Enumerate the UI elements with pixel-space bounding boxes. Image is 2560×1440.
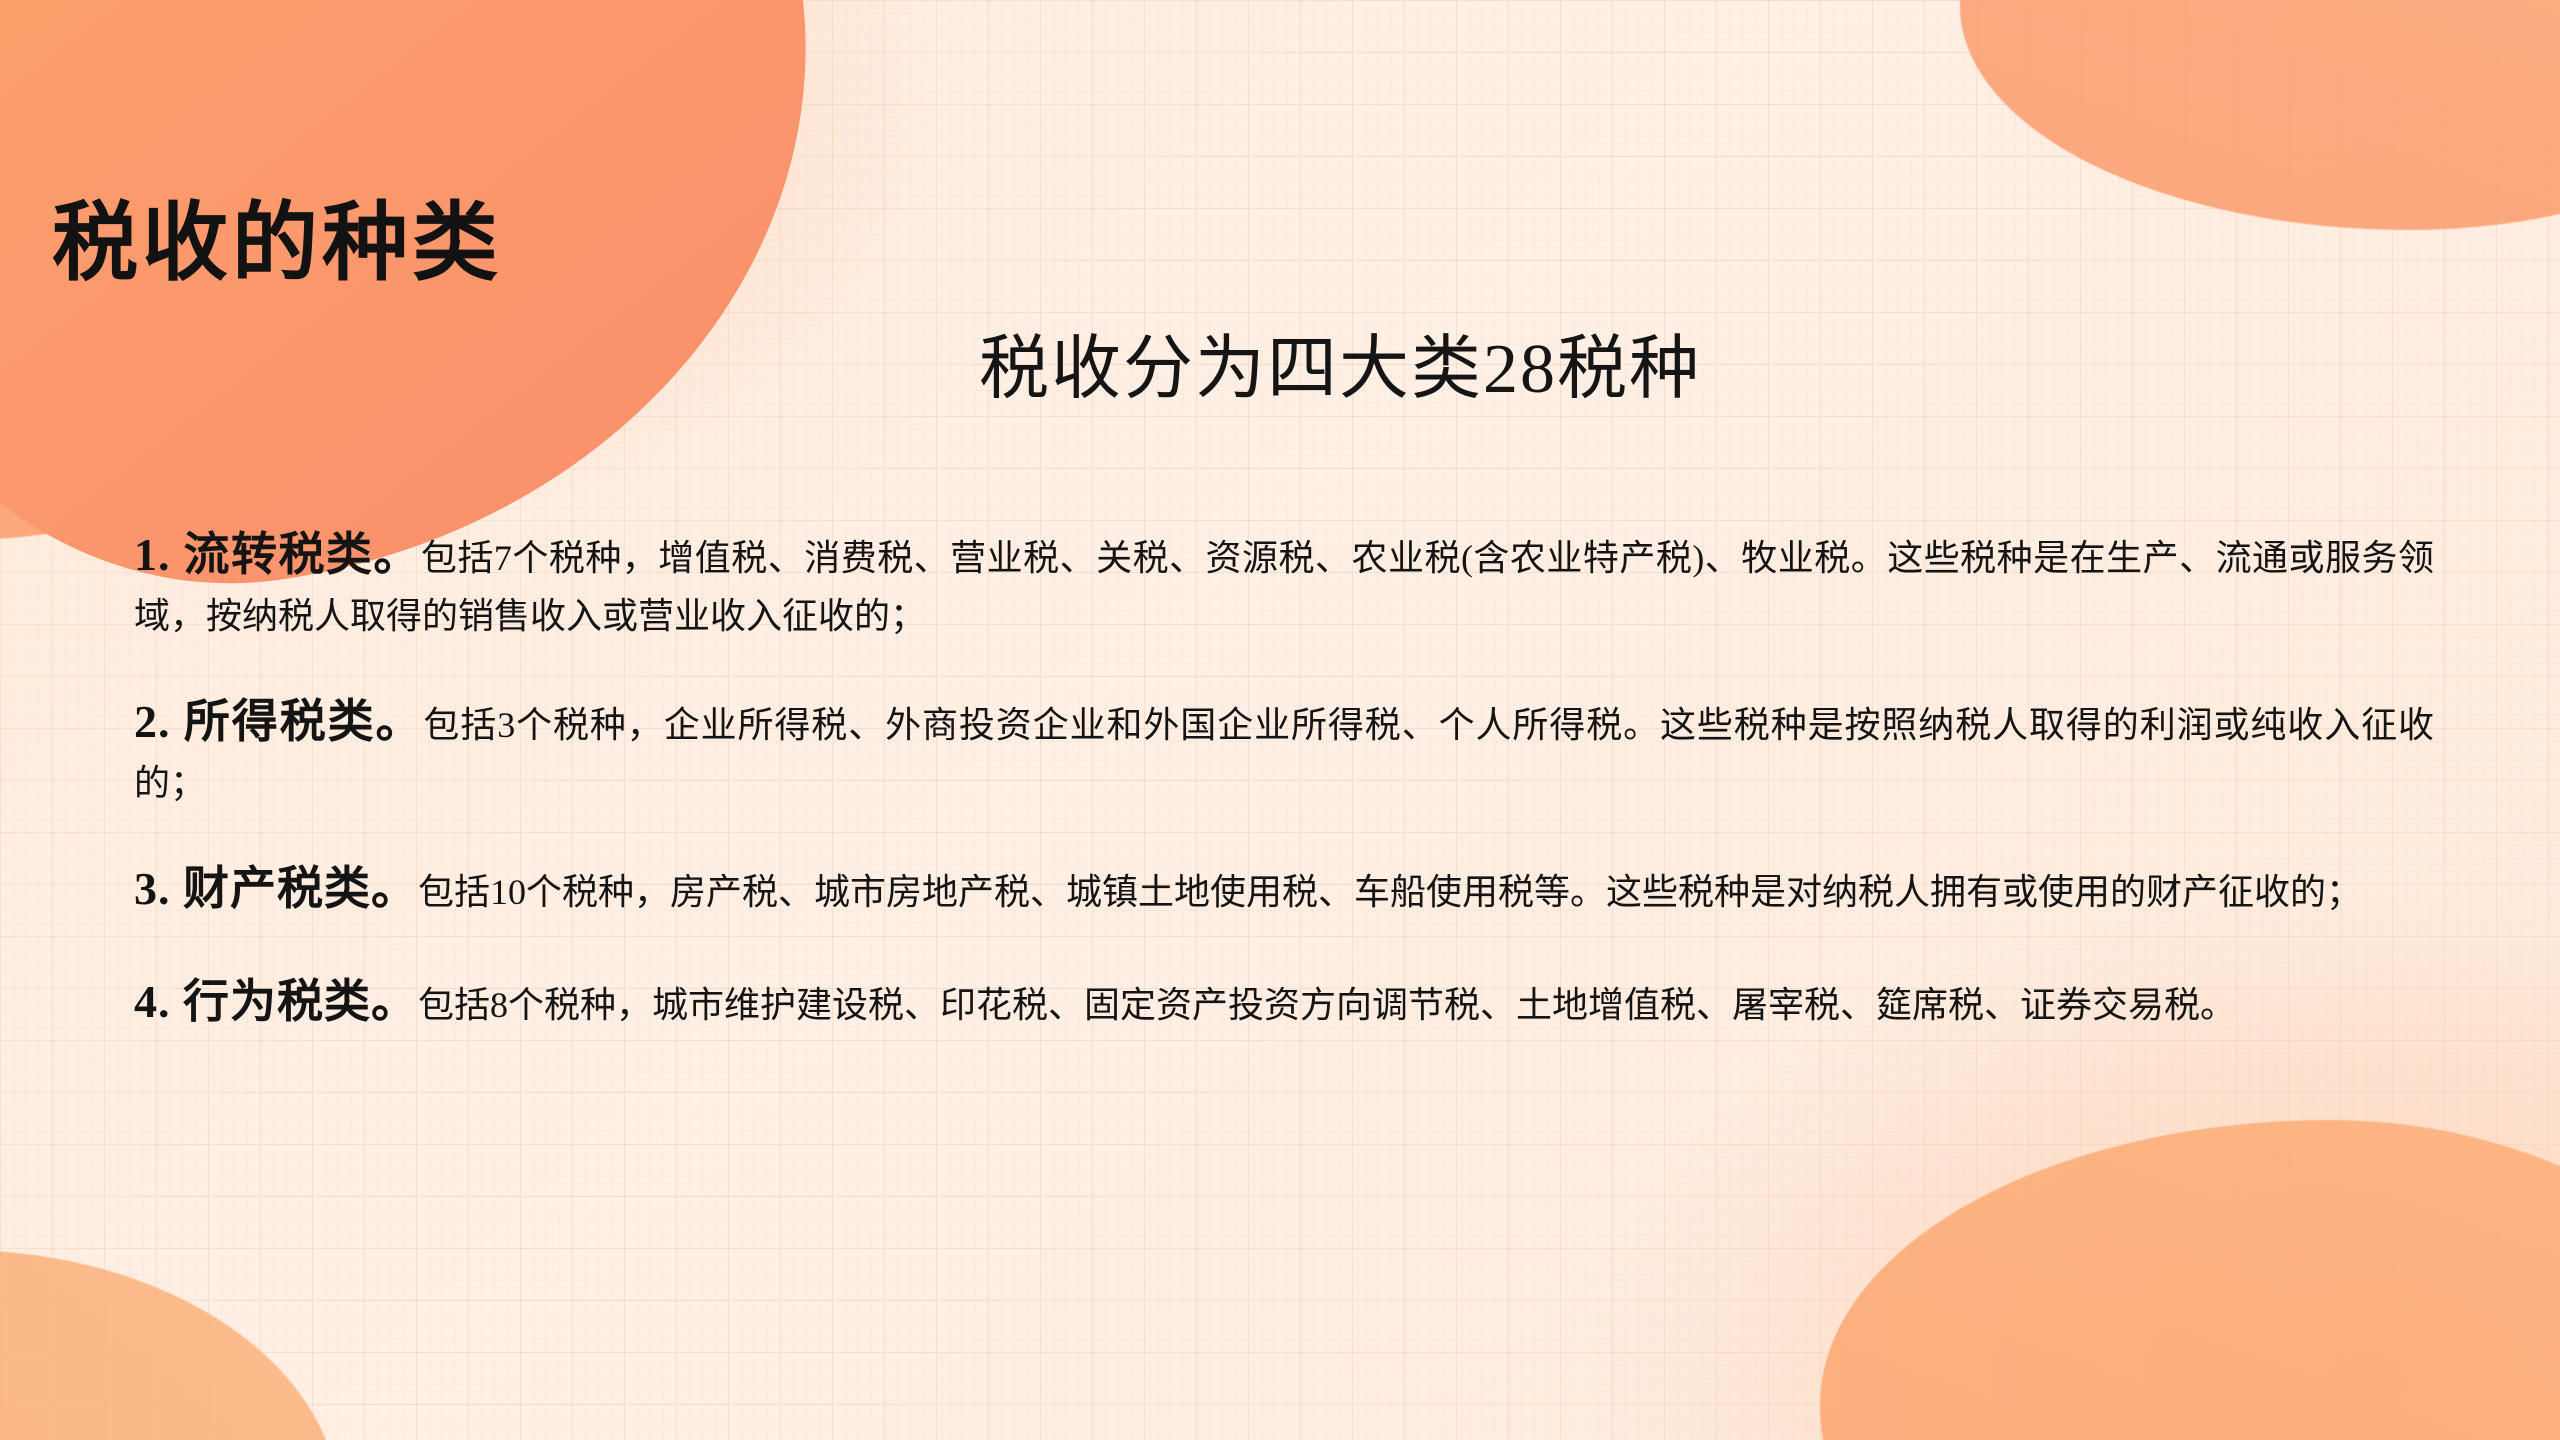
paragraph-body: 包括8个税种，城市维护建设税、印花税、固定资产投资方向调节税、土地增值税、屠宰税… (418, 985, 2236, 1025)
paragraph-body: 包括3个税种，企业所得税、外商投资企业和外国企业所得税、个人所得税。这些税种是按… (134, 705, 2434, 803)
paragraph-item: 2. 所得税类。包括3个税种，企业所得税、外商投资企业和外国企业所得税、个人所得… (134, 687, 2434, 810)
paragraph-body: 包括10个税种，房产税、城市房地产税、城镇土地使用税、车船使用税等。这些税种是对… (418, 872, 2362, 912)
paragraph-lead: 4. 行为税类。 (134, 976, 418, 1027)
slide-content: 税收的种类 税收分为四大类28税种 1. 流转税类。包括7个税种，增值税、消费税… (0, 0, 2560, 1440)
slide-canvas: 税收的种类 税收分为四大类28税种 1. 流转税类。包括7个税种，增值税、消费税… (0, 0, 2560, 1440)
paragraph-item: 3. 财产税类。包括10个税种，房产税、城市房地产税、城镇土地使用税、车船使用税… (134, 854, 2434, 923)
paragraph-lead: 1. 流转税类。 (134, 529, 421, 580)
paragraph-lead: 3. 财产税类。 (134, 863, 418, 914)
paragraph-item: 1. 流转税类。包括7个税种，增值税、消费税、营业税、关税、资源税、农业税(含农… (134, 520, 2434, 643)
body-text-block: 1. 流转税类。包括7个税种，增值税、消费税、营业税、关税、资源税、农业税(含农… (134, 520, 2434, 1036)
paragraph-body: 包括7个税种，增值税、消费税、营业税、关税、资源税、农业税(含农业特产税)、牧业… (134, 538, 2434, 636)
slide-subtitle: 税收分为四大类28税种 (0, 330, 2560, 411)
page-title: 税收的种类 (52, 196, 502, 291)
paragraph-lead: 2. 所得税类。 (134, 696, 423, 747)
paragraph-item: 4. 行为税类。包括8个税种，城市维护建设税、印花税、固定资产投资方向调节税、土… (134, 967, 2434, 1036)
